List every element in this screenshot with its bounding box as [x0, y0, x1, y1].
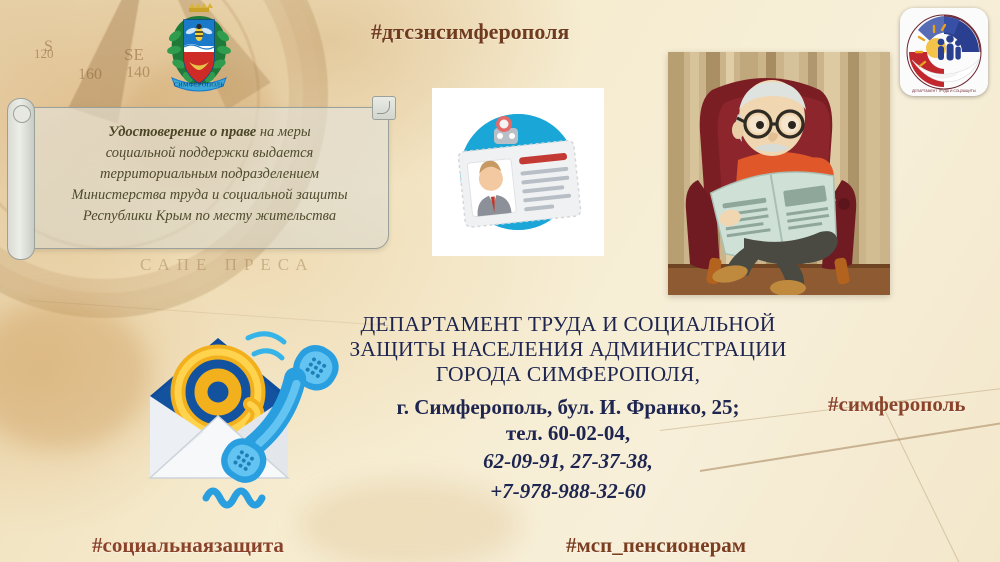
compass-tick-label: 140: [126, 64, 150, 82]
department-contact-block: ДЕПАРТАМЕНТ ТРУДА И СОЦИАЛЬНОЙ ЗАЩИТЫ НА…: [318, 312, 818, 505]
id-card-badge-icon: [432, 88, 604, 256]
hashtag-dtszn-simferopolya[interactable]: #дтсзнсимферополя: [371, 19, 569, 45]
social-protection-logo-icon: ДЕПАРТАМЕНТ ТРУДА И СОЦЗАЩИТЫ: [900, 8, 988, 96]
faded-map-text: САПЕ ПРЕСА: [140, 255, 315, 275]
scroll-note-lead: Удостоверение о праве: [108, 124, 256, 140]
scroll-note-line1-rest: на меры: [256, 124, 310, 140]
compass-needle-icon: [68, 0, 173, 124]
department-name-line-2: ЗАЩИТЫ НАСЕЛЕНИЯ АДМИНИСТРАЦИИ: [318, 337, 818, 362]
scroll-right-curl: [372, 96, 396, 120]
compass-tick-label: S: [44, 38, 53, 56]
department-address: г. Симферополь, бул. И. Франко, 25;: [318, 394, 818, 420]
svg-text:ДЕПАРТАМЕНТ ТРУДА И СОЦЗАЩИТЫ: ДЕПАРТАМЕНТ ТРУДА И СОЦЗАЩИТЫ: [912, 89, 976, 93]
compass-tick-label: 120: [34, 46, 54, 62]
scroll-note-line2: социальной поддержки выдается: [47, 143, 372, 164]
poster-canvas: 120 S SE 160 140 САПЕ ПРЕСА: [0, 0, 1000, 562]
compass-tick-label: 160: [78, 66, 102, 84]
compass-tick-label: SE: [124, 45, 144, 65]
hashtag-simferopol[interactable]: #симферополь: [828, 392, 965, 417]
department-main-phone: тел. 60-02-04,: [318, 420, 818, 446]
envelope-at-sign-and-telephone-icon: [142, 312, 342, 510]
scroll-note-line5: Республики Крым по месту жительства: [47, 206, 372, 227]
scroll-note-line4: Министерства труда и социальной защиты: [47, 185, 372, 206]
scroll-note-card: Удостоверение о праве на меры социальной…: [22, 107, 389, 249]
parchment-stain: [0, 300, 150, 450]
simferopol-coat-of-arms-icon: СИМФЕРОПОЛЬ: [160, 2, 238, 94]
department-phones-line-1: 62-09-91, 27-37-38,: [318, 448, 818, 475]
scroll-left-roll: [7, 98, 35, 260]
hashtag-msp-pensioneram[interactable]: #мсп_пенсионерам: [566, 533, 746, 558]
scroll-note-text: Удостоверение о праве на меры социальной…: [47, 122, 372, 227]
scroll-note-line3: территориальным подразделением: [47, 164, 372, 185]
department-phones-line-2: +7-978-988-32-60: [318, 478, 818, 505]
elderly-man-reading-newspaper-illustration: [668, 52, 890, 295]
map-route-line: [880, 400, 964, 562]
department-name-line-3: ГОРОДА СИМФЕРОПОЛЯ,: [318, 362, 818, 387]
department-name-line-1: ДЕПАРТАМЕНТ ТРУДА И СОЦИАЛЬНОЙ: [318, 312, 818, 337]
hashtag-socialnaya-zashita[interactable]: #социальнаязащита: [92, 533, 284, 558]
svg-text:СИМФЕРОПОЛЬ: СИМФЕРОПОЛЬ: [174, 82, 224, 89]
